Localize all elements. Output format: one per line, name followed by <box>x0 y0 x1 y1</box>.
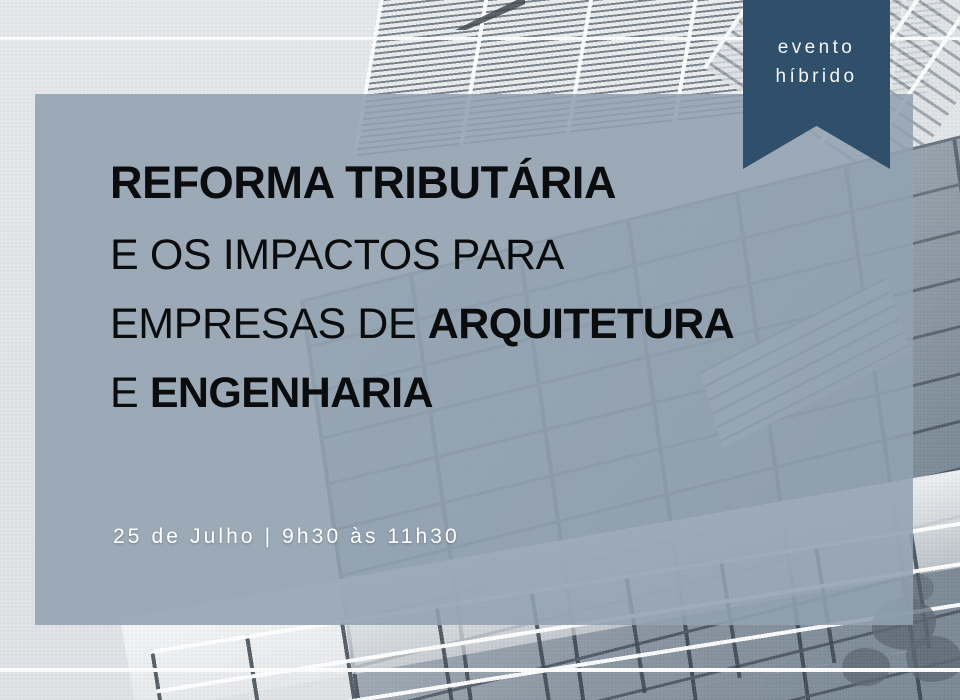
ribbon-line-1: evento <box>743 34 890 63</box>
headline-block: REFORMA TRIBUTÁRIA E OS IMPACTOS PARA EM… <box>110 160 910 415</box>
background-seam-bottom <box>0 668 960 672</box>
headline-line-3-regular: EMPRESAS DE <box>110 300 428 348</box>
reflection-blob <box>906 636 960 682</box>
headline-line-3-bold: ARQUITETURA <box>428 300 734 348</box>
ribbon-line-2: híbrido <box>743 63 890 92</box>
headline-line-4-regular: E <box>110 369 150 417</box>
event-title: REFORMA TRIBUTÁRIA E OS IMPACTOS PARA EM… <box>110 160 910 415</box>
event-schedule: 25 de Julho | 9h30 às 11h30 <box>113 525 460 549</box>
headline-line-2: E OS IMPACTOS PARA <box>110 234 910 277</box>
event-poster: REFORMA TRIBUTÁRIA E OS IMPACTOS PARA EM… <box>0 0 960 700</box>
headline-line-4: E ENGENHARIA <box>110 372 910 415</box>
headline-line-1: REFORMA TRIBUTÁRIA <box>110 160 910 205</box>
headline-line-3: EMPRESAS DE ARQUITETURA <box>110 303 910 346</box>
headline-line-4-bold: ENGENHARIA <box>150 369 433 417</box>
reflection-blob <box>842 648 890 686</box>
ribbon-label: evento híbrido <box>743 34 890 92</box>
